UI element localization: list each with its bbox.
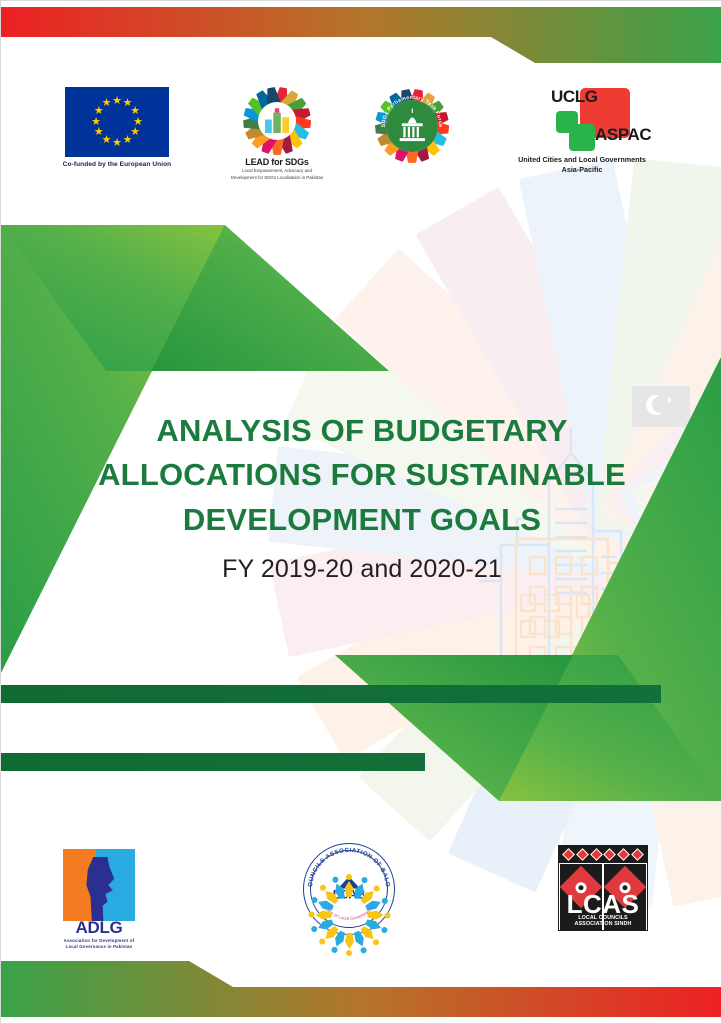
logo-sdgs-parliamentary-task-force: SDGs Parliamentary Task Force <box>352 87 472 163</box>
logo-lcas: LCAS LOCAL COUNCILS ASSOCIATION SINDH <box>558 845 648 931</box>
lcas-subtitle: LOCAL COUNCILS ASSOCIATION SINDH <box>559 915 647 927</box>
svg-text:SDGs Parliamentary Task Force: SDGs Parliamentary Task Force <box>381 95 443 127</box>
eu-star-icon: ★ <box>112 96 123 107</box>
wheel-hub <box>258 102 296 140</box>
sdg-wheel-icon <box>243 87 311 155</box>
city-glyph-icon <box>262 106 292 136</box>
uclg-wordmark-top: UCLG <box>551 87 598 107</box>
uclg-caption-line-1: United Cities and Local Governments <box>518 155 646 165</box>
title-line-1: ANALYSIS OF BUDGETARY <box>156 413 567 448</box>
cover-page: ✶ <box>0 0 722 1024</box>
eu-star-icon: ★ <box>93 127 104 138</box>
lcas-wordmark: LCAS <box>559 891 647 917</box>
logo-european-union: ★★★★★★★★★★★★ Co-funded by the European U… <box>32 87 202 168</box>
lcas-ajrak-border <box>559 846 647 863</box>
eu-star-icon: ★ <box>112 138 123 149</box>
logo-uclg-aspac: UCLG ASPAC United Cities and Local Gover… <box>472 87 692 174</box>
eu-star-icon: ★ <box>122 135 133 146</box>
lead-logo-tagline-1: Local Empowerment, Advocacy and <box>242 168 312 174</box>
page-title: ANALYSIS OF BUDGETARY ALLOCATIONS FOR SU… <box>1 409 722 542</box>
lead-logo-name: LEAD for SDGs <box>245 157 308 167</box>
logo-lead-for-sdgs: LEAD for SDGs Local Empowerment, Advocac… <box>202 87 352 182</box>
page-subtitle: FY 2019-20 and 2020-21 <box>1 555 722 584</box>
adlg-wordmark: ADLG <box>76 918 123 938</box>
lcas-ajrak-icon: LCAS LOCAL COUNCILS ASSOCIATION SINDH <box>558 845 648 931</box>
eu-star-icon: ★ <box>91 117 102 128</box>
uclg-aspac-logo-icon: UCLG ASPAC <box>512 87 652 153</box>
lcab-circle-icon: LOCAL COUNCILS ASSOCIATION OF BALOCHISTA… <box>303 843 395 935</box>
bottom-gradient-bar <box>1 961 722 1017</box>
title-line-3: DEVELOPMENT GOALS <box>183 502 541 537</box>
uclg-wordmark-bottom: ASPAC <box>595 125 651 145</box>
uclg-green-square-lower <box>569 124 595 151</box>
ptf-ring-text: SDGs Parliamentary Task Force <box>375 89 449 163</box>
divider-rule-upper <box>1 685 661 703</box>
eu-caption: Co-funded by the European Union <box>63 161 172 168</box>
cover-title-block: ANALYSIS OF BUDGETARY ALLOCATIONS FOR SU… <box>1 409 722 584</box>
eu-star-icon: ★ <box>101 98 112 109</box>
lead-logo-tagline-2: Development for SDGs Localisation in Pak… <box>231 175 323 181</box>
divider-rule-lower <box>1 753 425 771</box>
partner-logo-row-top: ★★★★★★★★★★★★ Co-funded by the European U… <box>1 87 722 187</box>
uclg-caption-line-2: Asia-Pacific <box>562 165 603 175</box>
title-line-2: ALLOCATIONS FOR SUSTAINABLE <box>98 457 626 492</box>
adlg-subtitle-line-2: Local Governance in Pakistan <box>66 944 133 950</box>
logo-adlg: ADLG Association for Development of Loca… <box>63 849 135 950</box>
logo-lcab: LOCAL COUNCILS ASSOCIATION OF BALOCHISTA… <box>303 843 395 935</box>
adlg-faces-icon <box>63 849 135 921</box>
partner-logo-row-bottom: ADLG Association for Development of Loca… <box>1 841 722 951</box>
sdg-wheel-parliament-icon: SDGs Parliamentary Task Force <box>375 89 449 163</box>
eu-flag-icon: ★★★★★★★★★★★★ <box>65 87 169 157</box>
top-gradient-bar <box>1 7 722 63</box>
